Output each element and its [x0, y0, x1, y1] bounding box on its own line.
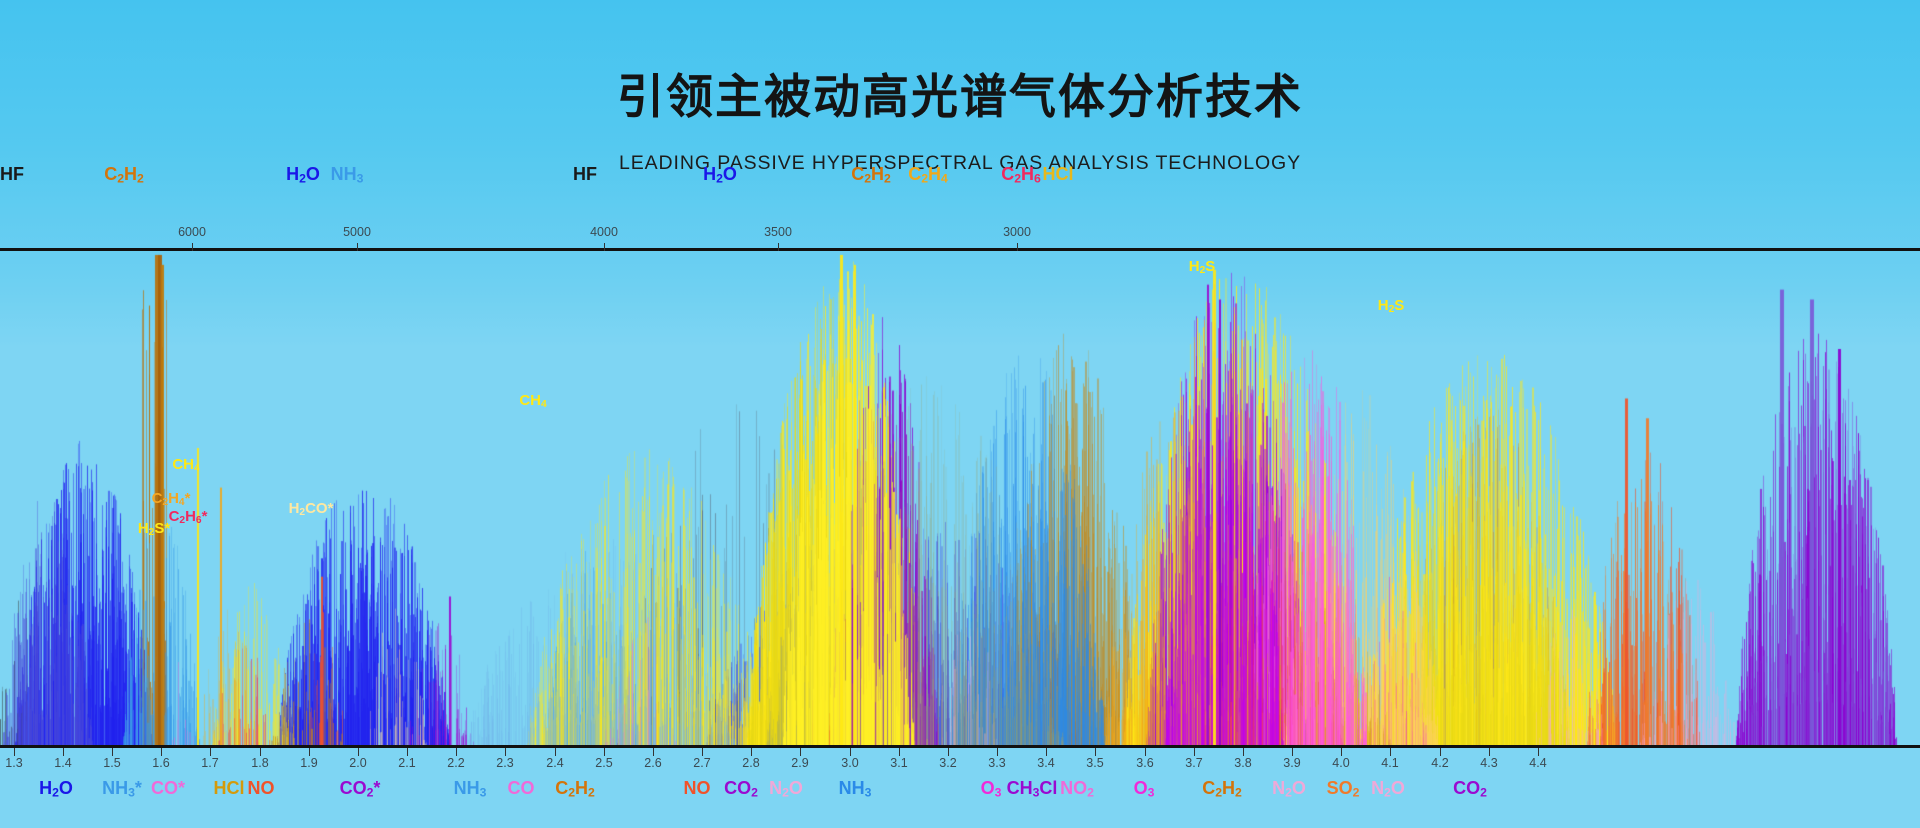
- bottom-tick-label: 1.7: [201, 756, 218, 770]
- bottom-tick-label: 2.4: [546, 756, 563, 770]
- bottom-tick-label: 3.7: [1185, 756, 1202, 770]
- header: 引领主被动高光谱气体分析技术 LEADING PASSIVE HYPERSPEC…: [0, 0, 1920, 250]
- bottom-tick: [63, 748, 64, 756]
- bottom-tick-label: 3.5: [1086, 756, 1103, 770]
- bottom-tick-label: 1.8: [251, 756, 268, 770]
- bottom-tick: [358, 748, 359, 756]
- gas-label-n2o: N2O: [1272, 778, 1306, 800]
- inplot-label-h2sstar: H2S*: [138, 520, 170, 538]
- bottom-tick: [309, 748, 310, 756]
- gas-label-h2o: H2O: [703, 164, 737, 186]
- bottom-tick: [1046, 748, 1047, 756]
- inplot-label-c2h6star: C2H6*: [169, 508, 208, 526]
- gas-label-c2h4: C2H4: [908, 164, 948, 186]
- bottom-tick: [260, 748, 261, 756]
- bottom-tick-label: 3.8: [1234, 756, 1251, 770]
- gas-label-c2h2: C2H2: [1202, 778, 1242, 800]
- bottom-tick: [653, 748, 654, 756]
- gas-label-c2h2: C2H2: [555, 778, 595, 800]
- bottom-tick: [161, 748, 162, 756]
- spectral-banner: 引领主被动高光谱气体分析技术 LEADING PASSIVE HYPERSPEC…: [0, 0, 1920, 828]
- bottom-tick-label: 2.2: [447, 756, 464, 770]
- bottom-tick: [555, 748, 556, 756]
- gas-label-hf: HF: [573, 164, 597, 185]
- gas-label-h2o: H2O: [39, 778, 73, 800]
- bottom-tick: [800, 748, 801, 756]
- gas-label-n2o: N2O: [1371, 778, 1405, 800]
- top-tick-label: 6000: [178, 225, 206, 239]
- gas-label-c2h2: C2H2: [851, 164, 891, 186]
- bottom-tick: [407, 748, 408, 756]
- bottom-tick: [997, 748, 998, 756]
- bottom-tick: [1538, 748, 1539, 756]
- bottom-tick-label: 2.9: [791, 756, 808, 770]
- bottom-tick: [604, 748, 605, 756]
- inplot-label-h2s: H2S: [1378, 297, 1405, 315]
- bottom-tick-label: 4.1: [1381, 756, 1398, 770]
- spectrum-plot-area: H2SCH4H2COH2SH2SCH4CH4C2H4*H2CO*C2H6*H2S…: [0, 250, 1920, 745]
- gas-label-n2o: N2O: [769, 778, 803, 800]
- gas-label-nh3star: NH3*: [102, 778, 142, 800]
- bottom-tick: [850, 748, 851, 756]
- bottom-tick: [1390, 748, 1391, 756]
- top-tick-label: 5000: [343, 225, 371, 239]
- bottom-tick: [1095, 748, 1096, 756]
- bottom-tick-label: 4.2: [1431, 756, 1448, 770]
- inplot-label-ch4: CH4: [172, 456, 199, 474]
- bottom-tick-label: 1.9: [300, 756, 317, 770]
- bottom-tick: [1489, 748, 1490, 756]
- bottom-tick: [1194, 748, 1195, 756]
- bottom-tick-label: 3.2: [939, 756, 956, 770]
- bottom-tick-label: 2.3: [496, 756, 513, 770]
- gas-label-ch3cl: CH3Cl: [1007, 778, 1058, 800]
- bottom-tick: [456, 748, 457, 756]
- bottom-tick: [702, 748, 703, 756]
- bottom-tick-label: 4.3: [1480, 756, 1497, 770]
- bottom-tick-label: 1.4: [54, 756, 71, 770]
- bottom-tick-label: 2.0: [349, 756, 366, 770]
- bottom-tick-label: 3.6: [1136, 756, 1153, 770]
- bottom-tick: [1341, 748, 1342, 756]
- gas-label-no: NO: [684, 778, 711, 799]
- bottom-tick: [899, 748, 900, 756]
- top-tick-label: 4000: [590, 225, 618, 239]
- bottom-tick-label: 2.6: [644, 756, 661, 770]
- gas-label-c2h2: C2H2: [104, 164, 144, 186]
- top-tick-label: 3500: [764, 225, 792, 239]
- bottom-tick: [210, 748, 211, 756]
- bottom-tick-label: 3.3: [988, 756, 1005, 770]
- bottom-tick-label: 2.1: [398, 756, 415, 770]
- gas-label-hf: HF: [0, 164, 24, 185]
- gas-label-co: CO: [508, 778, 535, 799]
- gas-label-no2: NO2: [1060, 778, 1094, 800]
- gas-label-nh3: NH3: [839, 778, 872, 800]
- bottom-tick-label: 2.7: [693, 756, 710, 770]
- bottom-tick-label: 2.5: [595, 756, 612, 770]
- gas-label-h2o: H2O: [286, 164, 320, 186]
- gas-label-costar: CO*: [151, 778, 185, 799]
- inplot-label-ch4: CH4: [519, 392, 546, 410]
- bottom-tick-label: 3.4: [1037, 756, 1054, 770]
- bottom-tick-label: 3.0: [841, 756, 858, 770]
- gas-label-c2h6: C2H6: [1001, 164, 1041, 186]
- inplot-label-h2costar: H2CO*: [289, 500, 334, 518]
- bottom-tick-label: 1.3: [5, 756, 22, 770]
- bottom-tick-label: 4.0: [1332, 756, 1349, 770]
- gas-label-nh3: NH3: [454, 778, 487, 800]
- bottom-tick-label: 4.4: [1529, 756, 1546, 770]
- bottom-tick: [1292, 748, 1293, 756]
- bottom-tick: [112, 748, 113, 756]
- bottom-axis-line: [0, 745, 1920, 748]
- inplot-label-c2h4star: C2H4*: [152, 490, 191, 508]
- gas-label-o3: O3: [1134, 778, 1155, 800]
- bottom-tick-label: 1.5: [103, 756, 120, 770]
- gas-label-o3: O3: [981, 778, 1002, 800]
- bottom-tick-label: 2.8: [742, 756, 759, 770]
- gas-label-so2: SO2: [1327, 778, 1360, 800]
- bottom-tick-label: 3.9: [1283, 756, 1300, 770]
- bottom-tick: [1243, 748, 1244, 756]
- inplot-label-h2s: H2S: [1189, 258, 1216, 276]
- bottom-tick: [14, 748, 15, 756]
- gas-label-hcl: HCl: [1043, 164, 1074, 185]
- bottom-tick-label: 3.1: [890, 756, 907, 770]
- gas-label-co2star: CO2*: [340, 778, 381, 800]
- gas-label-nh3: NH3: [331, 164, 364, 186]
- bottom-tick: [1440, 748, 1441, 756]
- spectrum-canvas: [0, 250, 1920, 745]
- bottom-tick: [1145, 748, 1146, 756]
- bottom-tick: [751, 748, 752, 756]
- top-tick-label: 3000: [1003, 225, 1031, 239]
- bottom-tick: [948, 748, 949, 756]
- bottom-tick: [505, 748, 506, 756]
- bottom-tick-label: 1.6: [152, 756, 169, 770]
- gas-label-no: NO: [248, 778, 275, 799]
- gas-label-co2: CO2: [724, 778, 758, 800]
- gas-label-hcl: HCl: [214, 778, 245, 799]
- gas-label-co2: CO2: [1453, 778, 1487, 800]
- page-title: 引领主被动高光谱气体分析技术: [0, 58, 1920, 127]
